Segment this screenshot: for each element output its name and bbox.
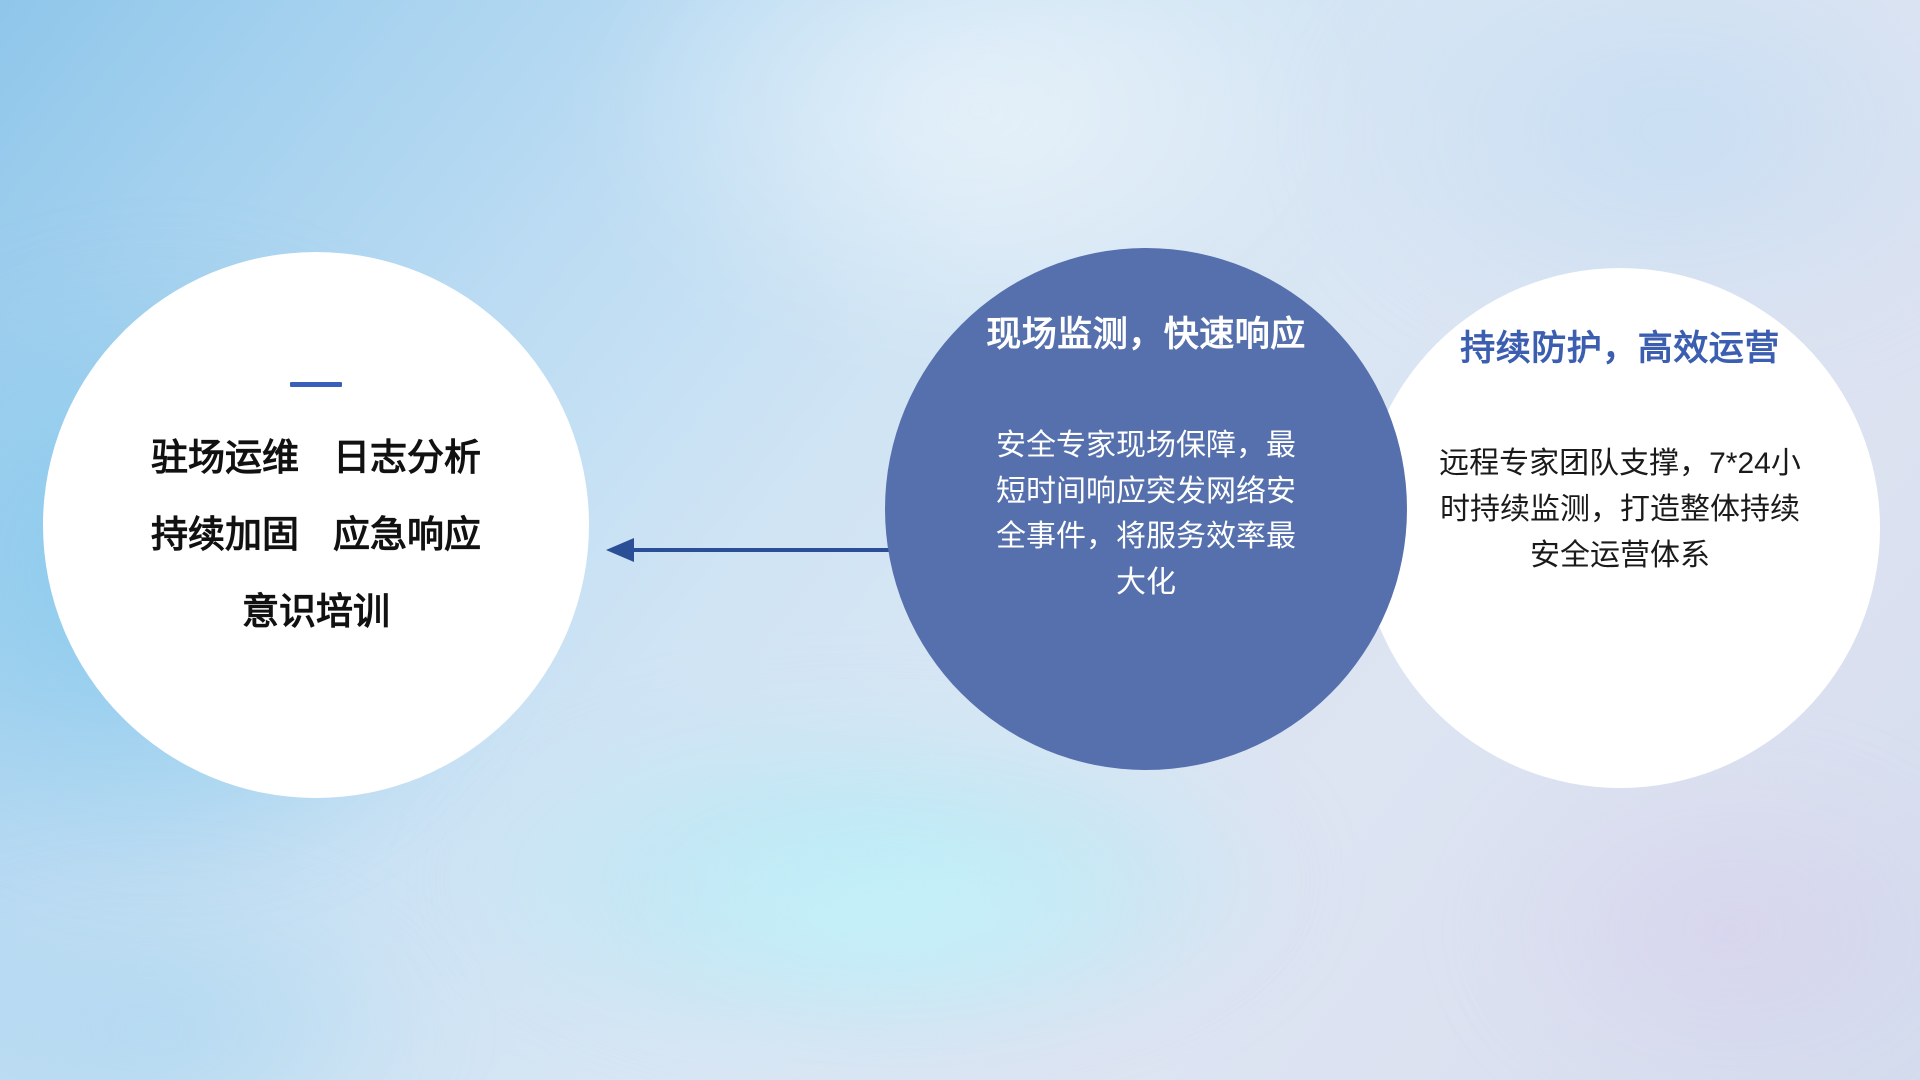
card-title: 持续防护，高效运营 — [1460, 320, 1780, 371]
card-body: 安全专家现场保障，最短时间响应突发网络安全事件，将服务效率最大化 — [996, 423, 1296, 605]
capability-tag: 应急响应 — [333, 516, 481, 553]
capability-row: 持续加固 应急响应 — [151, 516, 481, 553]
background-glow-cyan-secondary — [520, 760, 1280, 1060]
divider-dash — [290, 382, 342, 387]
flow-arrow-icon — [600, 520, 920, 580]
capability-row: 驻场运维 日志分析 — [151, 439, 481, 476]
continuous-protection-circle: 持续防护，高效运营 远程专家团队支撑，7*24小时持续监测，打造整体持续安全运营… — [1360, 268, 1880, 788]
onsite-monitoring-circle: 现场监测，快速响应 安全专家现场保障，最短时间响应突发网络安全事件，将服务效率最… — [885, 248, 1407, 770]
capability-row: 意识培训 — [151, 593, 481, 630]
capability-tag: 持续加固 — [151, 516, 299, 553]
capability-tag: 意识培训 — [242, 593, 390, 630]
card-title: 现场监测，快速响应 — [986, 306, 1306, 357]
diagram-canvas: 驻场运维 日志分析 持续加固 应急响应 意识培训 持续防护，高效运营 远程专家团… — [0, 0, 1920, 1080]
capabilities-circle: 驻场运维 日志分析 持续加固 应急响应 意识培训 — [43, 252, 589, 798]
capability-tag: 驻场运维 — [151, 439, 299, 476]
capability-tag: 日志分析 — [333, 439, 481, 476]
capability-tag-list: 驻场运维 日志分析 持续加固 应急响应 意识培训 — [151, 439, 481, 630]
card-body: 远程专家团队支撑，7*24小时持续监测，打造整体持续安全运营体系 — [1435, 441, 1805, 580]
